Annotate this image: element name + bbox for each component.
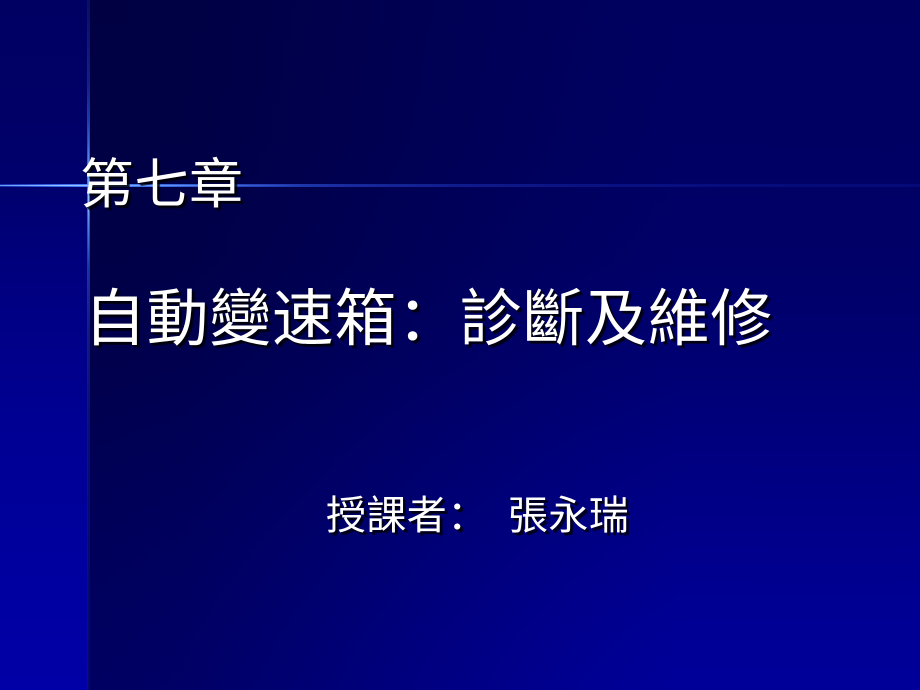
chapter-label: 第七章 [80,158,244,212]
slide-left-accent-panel [0,0,88,690]
presentation-slide: 第七章 自動變速箱：診斷及維修 授課者： 張永瑞 [0,0,920,690]
instructor-line: 授課者： 張永瑞 [326,496,629,536]
slide-title: 自動變速箱：診斷及維修 [84,288,773,350]
